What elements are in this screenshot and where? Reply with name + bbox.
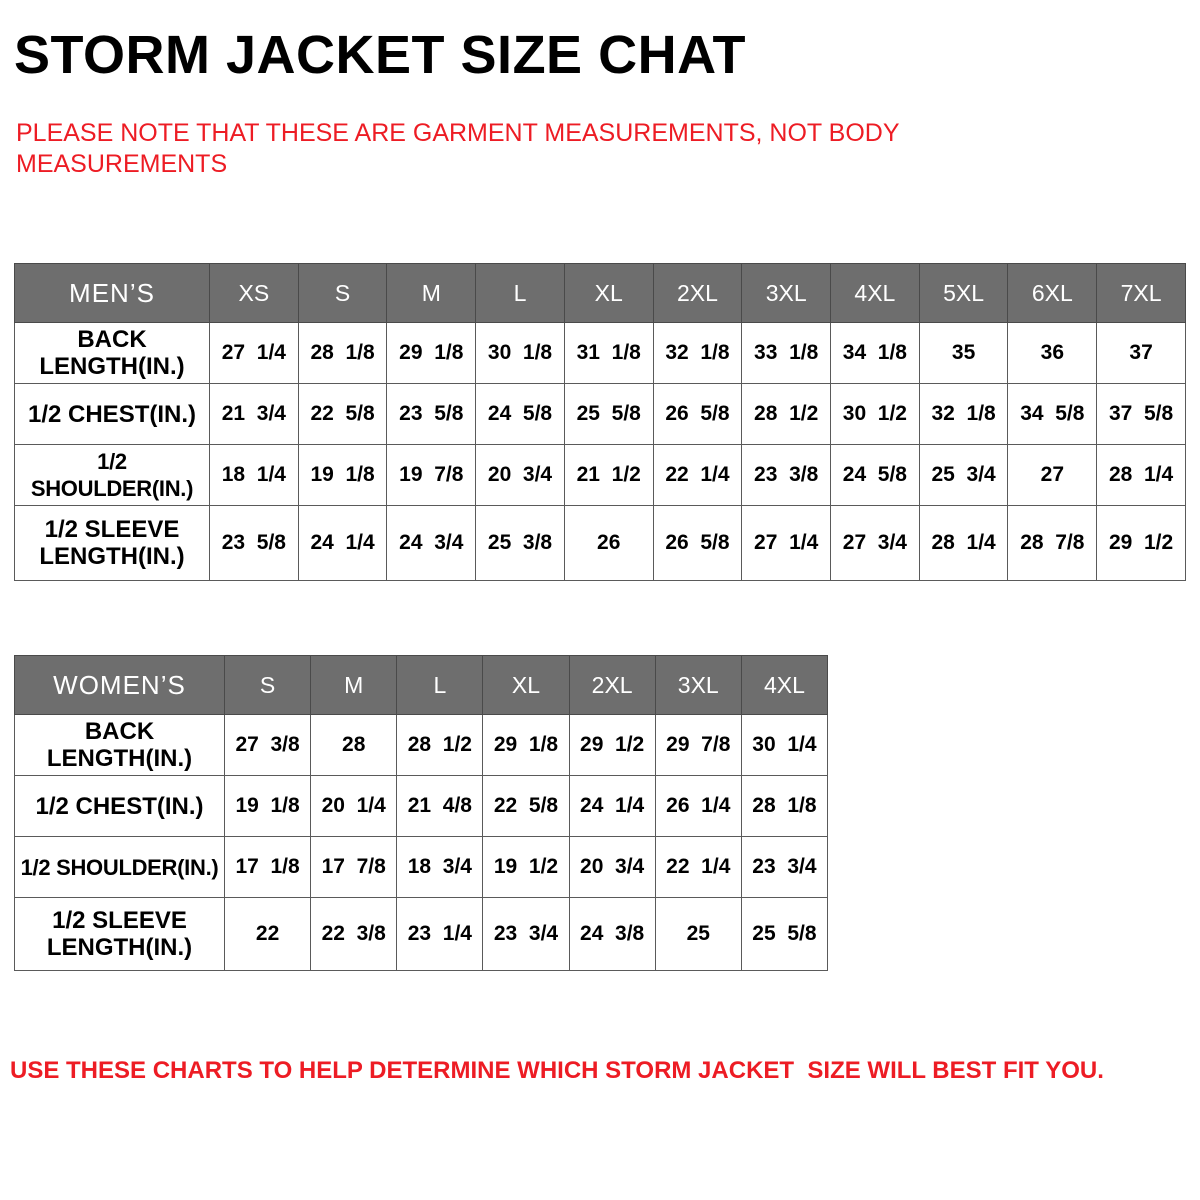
measurement-cell: 36 <box>1008 323 1097 384</box>
measurement-cell: 32 1/8 <box>919 384 1008 445</box>
measurement-cell: 24 5/8 <box>476 384 565 445</box>
size-column-header-l: L <box>476 264 565 323</box>
measurement-cell: 26 5/8 <box>653 506 742 581</box>
measurement-cell: 28 1/4 <box>919 506 1008 581</box>
mens-corner-header: MEN’S <box>15 264 210 323</box>
measurement-cell: 21 1/2 <box>564 445 653 506</box>
size-column-header-l: L <box>397 656 483 715</box>
measurement-cell: 25 3/4 <box>919 445 1008 506</box>
measurement-cell: 30 1/8 <box>476 323 565 384</box>
table-row: BACKLENGTH(IN.)27 1/428 1/829 1/830 1/83… <box>15 323 1186 384</box>
measurement-cell: 23 5/8 <box>387 384 476 445</box>
measurement-cell: 30 1/2 <box>831 384 920 445</box>
measurement-cell: 28 1/8 <box>298 323 387 384</box>
measurement-cell: 29 1/8 <box>483 715 569 776</box>
measurement-cell: 31 1/8 <box>564 323 653 384</box>
size-column-header-s: S <box>298 264 387 323</box>
measurement-cell: 29 1/2 <box>569 715 655 776</box>
measurement-cell: 22 3/8 <box>311 898 397 971</box>
womens-corner-header: WOMEN’S <box>15 656 225 715</box>
size-column-header-5xl: 5XL <box>919 264 1008 323</box>
measurement-cell: 34 5/8 <box>1008 384 1097 445</box>
table-row: 1/2 CHEST(IN.)19 1/820 1/421 4/822 5/824… <box>15 776 828 837</box>
measurement-cell: 34 1/8 <box>831 323 920 384</box>
size-column-header-2xl: 2XL <box>653 264 742 323</box>
measurement-cell: 27 1/4 <box>210 323 299 384</box>
womens-table-header: WOMEN’SSMLXL2XL3XL4XL <box>15 656 828 715</box>
table-row: BACKLENGTH(IN.)27 3/82828 1/229 1/829 1/… <box>15 715 828 776</box>
measurement-cell: 20 3/4 <box>569 837 655 898</box>
table-row: 1/2 SHOULDER(IN.)17 1/817 7/818 3/419 1/… <box>15 837 828 898</box>
size-column-header-xl: XL <box>564 264 653 323</box>
measurement-cell: 22 1/4 <box>655 837 741 898</box>
measurement-cell: 24 1/4 <box>569 776 655 837</box>
measurement-cell: 19 7/8 <box>387 445 476 506</box>
measurement-row-label: 1/2 SLEEVELENGTH(IN.) <box>15 898 225 971</box>
measurement-cell: 27 <box>1008 445 1097 506</box>
measurement-cell: 24 3/4 <box>387 506 476 581</box>
measurement-cell: 18 3/4 <box>397 837 483 898</box>
measurement-cell: 23 3/8 <box>742 445 831 506</box>
measurement-cell: 24 3/8 <box>569 898 655 971</box>
measurement-cell: 20 3/4 <box>476 445 565 506</box>
measurement-cell: 17 7/8 <box>311 837 397 898</box>
table-row: 1/2 CHEST(IN.)21 3/422 5/823 5/824 5/825… <box>15 384 1186 445</box>
measurement-row-label: 1/2 SHOULDER(IN.) <box>15 445 210 506</box>
measurement-cell: 28 1/2 <box>397 715 483 776</box>
measurement-cell: 19 1/8 <box>298 445 387 506</box>
size-column-header-6xl: 6XL <box>1008 264 1097 323</box>
measurement-cell: 25 <box>655 898 741 971</box>
size-column-header-2xl: 2XL <box>569 656 655 715</box>
measurement-cell: 37 5/8 <box>1097 384 1186 445</box>
size-column-header-3xl: 3XL <box>655 656 741 715</box>
measurement-cell: 21 3/4 <box>210 384 299 445</box>
measurement-cell: 18 1/4 <box>210 445 299 506</box>
table-row: 1/2 SLEEVELENGTH(IN.)2222 3/823 1/423 3/… <box>15 898 828 971</box>
size-column-header-s: S <box>225 656 311 715</box>
measurement-cell: 22 1/4 <box>653 445 742 506</box>
measurement-cell: 27 1/4 <box>742 506 831 581</box>
measurement-cell: 25 5/8 <box>564 384 653 445</box>
measurement-cell: 37 <box>1097 323 1186 384</box>
measurement-cell: 22 5/8 <box>298 384 387 445</box>
size-column-header-4xl: 4XL <box>741 656 827 715</box>
measurement-cell: 25 3/8 <box>476 506 565 581</box>
table-row: 1/2 SHOULDER(IN.)18 1/419 1/819 7/820 3/… <box>15 445 1186 506</box>
womens-size-table: WOMEN’SSMLXL2XL3XL4XL BACKLENGTH(IN.)27 … <box>14 655 828 971</box>
measurement-cell: 22 <box>225 898 311 971</box>
garment-measurement-note: PLEASE NOTE THAT THESE ARE GARMENT MEASU… <box>16 118 996 180</box>
measurement-row-label: 1/2 CHEST(IN.) <box>15 776 225 837</box>
measurement-cell: 26 <box>564 506 653 581</box>
size-column-header-m: M <box>311 656 397 715</box>
table-header-row: WOMEN’SSMLXL2XL3XL4XL <box>15 656 828 715</box>
measurement-cell: 27 3/8 <box>225 715 311 776</box>
measurement-cell: 23 3/4 <box>483 898 569 971</box>
measurement-cell: 23 1/4 <box>397 898 483 971</box>
measurement-cell: 20 1/4 <box>311 776 397 837</box>
size-column-header-4xl: 4XL <box>831 264 920 323</box>
page-title: STORM JACKET SIZE CHAT <box>14 24 746 86</box>
measurement-cell: 23 5/8 <box>210 506 299 581</box>
measurement-row-label: BACKLENGTH(IN.) <box>15 715 225 776</box>
measurement-cell: 32 1/8 <box>653 323 742 384</box>
measurement-cell: 19 1/8 <box>225 776 311 837</box>
measurement-cell: 28 1/4 <box>1097 445 1186 506</box>
measurement-cell: 33 1/8 <box>742 323 831 384</box>
table-row: 1/2 SLEEVELENGTH(IN.)23 5/824 1/424 3/42… <box>15 506 1186 581</box>
table-header-row: MEN’SXSSMLXL2XL3XL4XL5XL6XL7XL <box>15 264 1186 323</box>
measurement-cell: 26 1/4 <box>655 776 741 837</box>
womens-table-body: BACKLENGTH(IN.)27 3/82828 1/229 1/829 1/… <box>15 715 828 971</box>
measurement-cell: 21 4/8 <box>397 776 483 837</box>
measurement-cell: 28 1/8 <box>741 776 827 837</box>
measurement-cell: 35 <box>919 323 1008 384</box>
measurement-cell: 29 1/8 <box>387 323 476 384</box>
measurement-cell: 24 1/4 <box>298 506 387 581</box>
use-charts-note: USE THESE CHARTS TO HELP DETERMINE WHICH… <box>10 1056 1150 1086</box>
measurement-row-label: BACKLENGTH(IN.) <box>15 323 210 384</box>
measurement-row-label: 1/2 SHOULDER(IN.) <box>15 837 225 898</box>
measurement-cell: 29 7/8 <box>655 715 741 776</box>
measurement-cell: 25 5/8 <box>741 898 827 971</box>
measurement-cell: 28 1/2 <box>742 384 831 445</box>
measurement-row-label: 1/2 CHEST(IN.) <box>15 384 210 445</box>
measurement-cell: 29 1/2 <box>1097 506 1186 581</box>
size-column-header-m: M <box>387 264 476 323</box>
measurement-row-label: 1/2 SLEEVELENGTH(IN.) <box>15 506 210 581</box>
size-column-header-3xl: 3XL <box>742 264 831 323</box>
size-column-header-xs: XS <box>210 264 299 323</box>
measurement-cell: 26 5/8 <box>653 384 742 445</box>
measurement-cell: 17 1/8 <box>225 837 311 898</box>
measurement-cell: 22 5/8 <box>483 776 569 837</box>
measurement-cell: 24 5/8 <box>831 445 920 506</box>
measurement-cell: 28 7/8 <box>1008 506 1097 581</box>
mens-table-body: BACKLENGTH(IN.)27 1/428 1/829 1/830 1/83… <box>15 323 1186 581</box>
mens-table-header: MEN’SXSSMLXL2XL3XL4XL5XL6XL7XL <box>15 264 1186 323</box>
measurement-cell: 19 1/2 <box>483 837 569 898</box>
mens-size-table: MEN’SXSSMLXL2XL3XL4XL5XL6XL7XL BACKLENGT… <box>14 263 1186 581</box>
measurement-cell: 30 1/4 <box>741 715 827 776</box>
measurement-cell: 28 <box>311 715 397 776</box>
size-column-header-xl: XL <box>483 656 569 715</box>
size-column-header-7xl: 7XL <box>1097 264 1186 323</box>
measurement-cell: 27 3/4 <box>831 506 920 581</box>
measurement-cell: 23 3/4 <box>741 837 827 898</box>
